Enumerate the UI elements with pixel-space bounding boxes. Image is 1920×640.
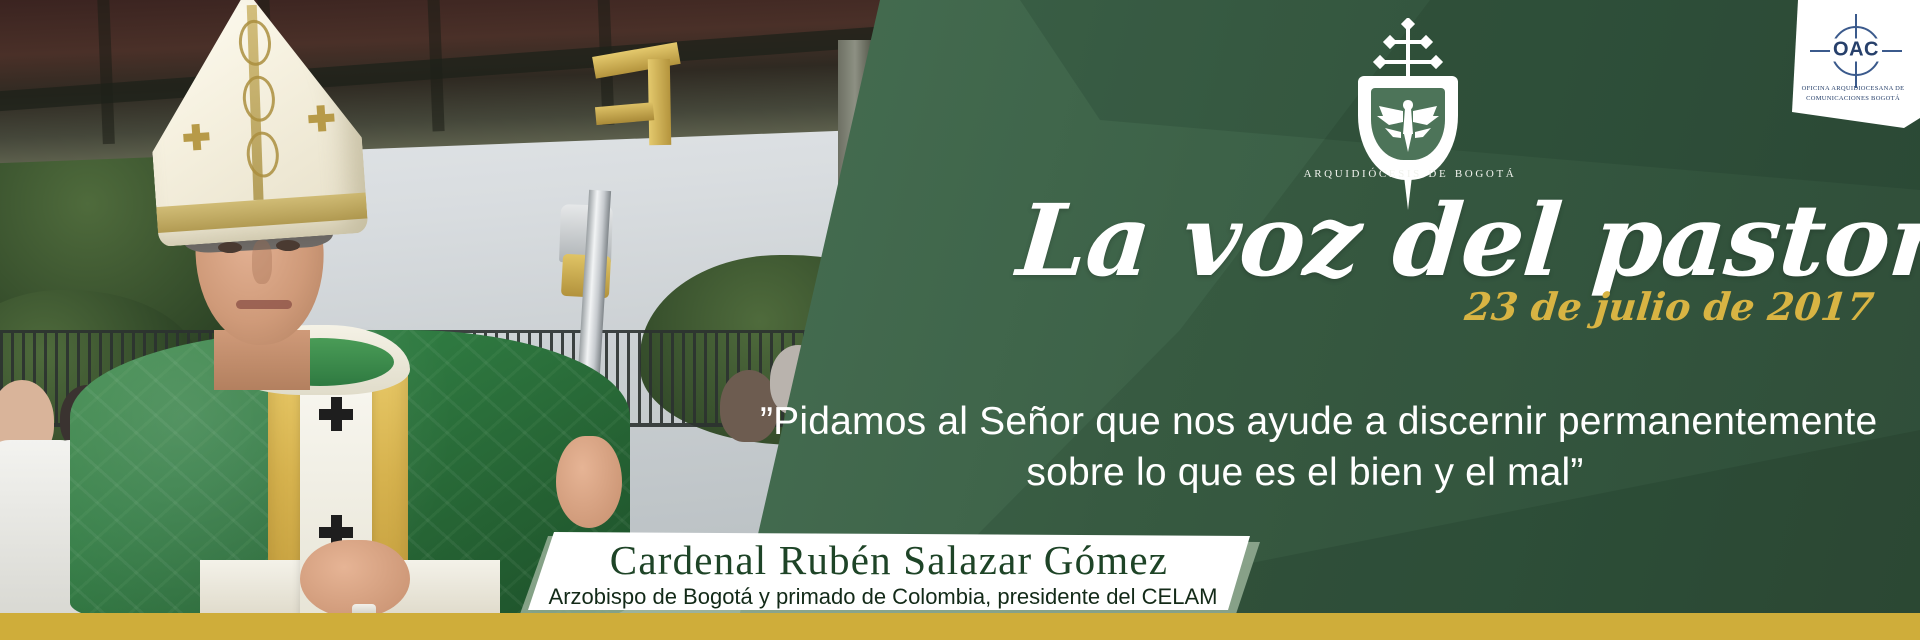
la-voz-del-pastor-banner: Arquidiócesis de Bogotá La voz del pasto… <box>0 0 1920 640</box>
mitre-cross <box>183 123 211 151</box>
oac-logo: OAC Oficina Arquidiocesana de Comunicaci… <box>1792 0 1920 128</box>
roof-beam <box>0 22 900 117</box>
quote-line-2: sobre lo que es el bien y el mal” <box>760 447 1850 498</box>
mouth <box>236 300 292 309</box>
cardinal-title: Arzobispo de Bogotá y primado de Colombi… <box>528 584 1244 610</box>
crozier-crook <box>556 44 674 171</box>
bottom-gold-bar <box>0 613 1920 640</box>
eye-right <box>276 240 300 251</box>
nose <box>252 240 272 284</box>
issue-date: 23 de julio de 2017 <box>1463 288 1876 326</box>
mitre-ornament <box>241 75 276 123</box>
mitre-cross <box>308 105 336 133</box>
page-title: La voz del pastor <box>1014 192 1920 291</box>
mitre-ornament <box>245 130 280 178</box>
roof-rib <box>97 0 115 144</box>
eye-left <box>218 242 242 253</box>
hand-on-crozier <box>556 436 622 528</box>
mitre-ornament <box>237 19 272 67</box>
oac-caption: Oficina Arquidiocesana de Comunicaciones… <box>1798 84 1908 104</box>
hand-on-chest <box>300 540 410 613</box>
crozier-crook-inner <box>595 102 654 125</box>
pastoral-quote: ”Pidamos al Señor que nos ayude a discer… <box>760 396 1850 499</box>
quote-line-1: ”Pidamos al Señor que nos ayude a discer… <box>760 396 1850 447</box>
eagle-icon <box>1375 92 1441 156</box>
coat-of-arms-label: Arquidiócesis de Bogotá <box>1240 164 1580 182</box>
episcopal-ring <box>352 604 376 613</box>
oac-acronym: OAC <box>1830 38 1882 61</box>
nameplate: Cardenal Rubén Salazar Gómez Arzobispo d… <box>528 532 1250 610</box>
pallium-cross <box>319 397 353 431</box>
cardinal-name: Cardenal Rubén Salazar Gómez <box>528 536 1250 584</box>
archiepiscopal-cross-icon <box>1372 18 1444 84</box>
archdiocese-coat-of-arms <box>1338 18 1478 168</box>
oac-crosshair-icon: OAC <box>1808 22 1904 80</box>
